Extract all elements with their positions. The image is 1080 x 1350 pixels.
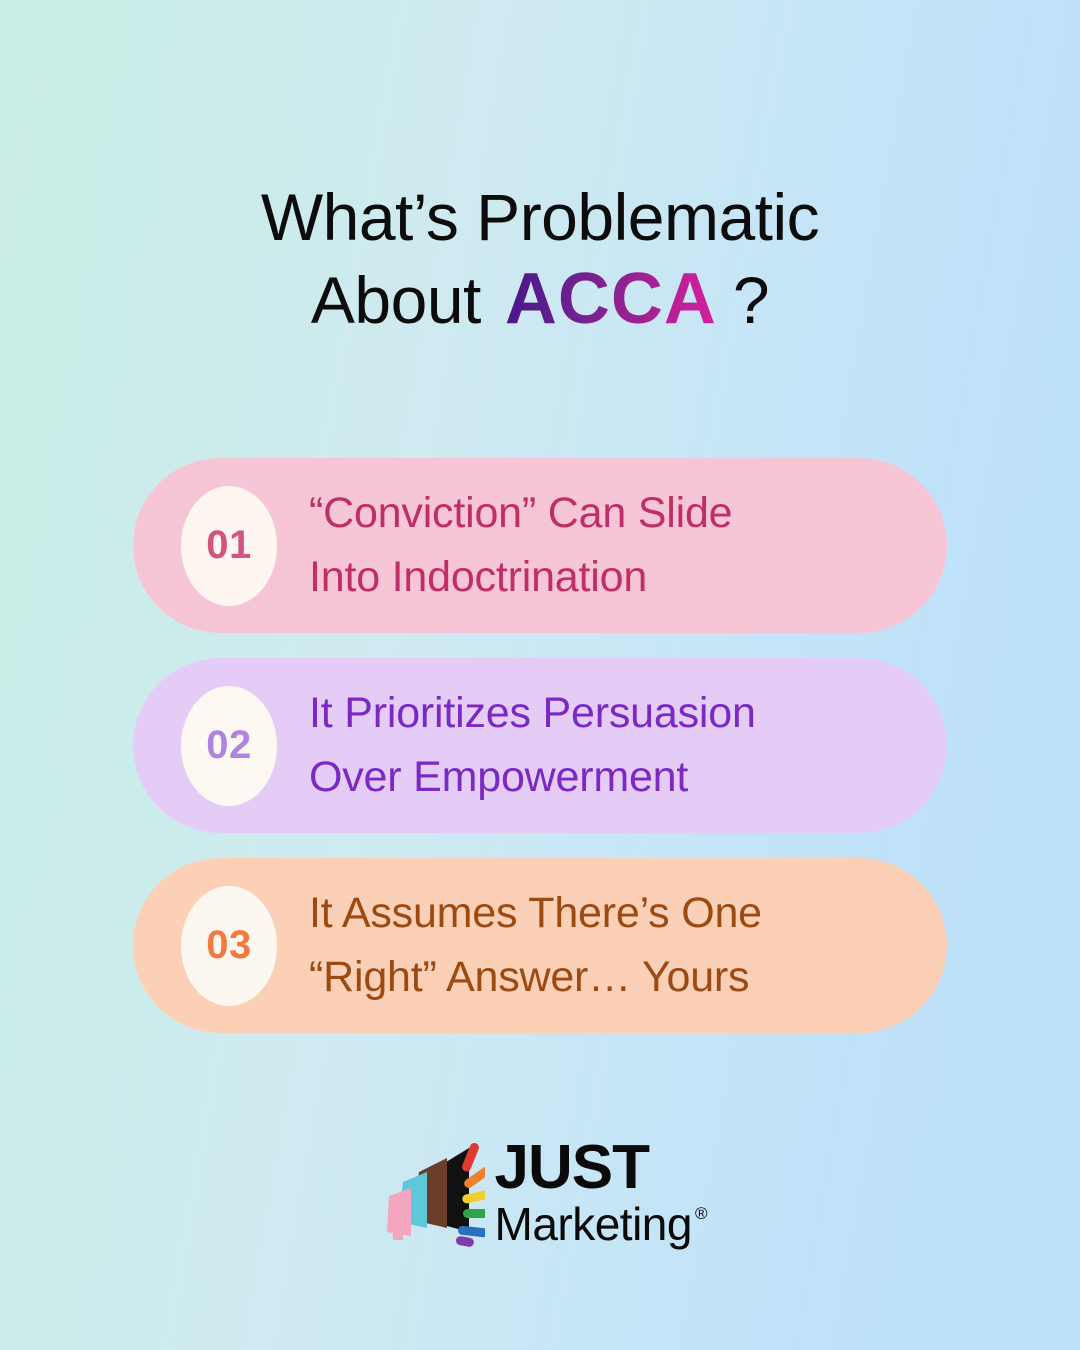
item-number: 03 [206,923,252,968]
list-item: 01 “Conviction” Can Slide Into Indoctrin… [133,458,947,633]
points-list: 01 “Conviction” Can Slide Into Indoctrin… [133,458,947,1033]
logo-inner: JUST Marketing ® [373,1136,708,1248]
title-line-1: What’s Problematic [0,176,1080,258]
item-number-badge: 01 [181,486,277,606]
title-question-mark: ? [733,259,769,341]
item-text: It Assumes There’s One “Right” Answer… Y… [309,882,762,1009]
logo-subtitle-wrap: Marketing ® [495,1201,708,1247]
item-text: It Prioritizes Persuasion Over Empowerme… [309,682,756,809]
list-item: 03 It Assumes There’s One “Right” Answer… [133,858,947,1033]
item-number-badge: 02 [181,686,277,806]
logo-subtitle: Marketing [495,1201,692,1247]
title-acca-highlight: ACCA [505,258,717,340]
item-text-line-2: “Right” Answer… Yours [309,946,762,1010]
logo-wordmark: JUST Marketing ® [495,1137,708,1247]
item-text-line-1: It Prioritizes Persuasion [309,689,756,737]
title-line-2: About ACCA ? [0,258,1080,341]
megaphone-icon [373,1136,485,1248]
poster-canvas: What’s Problematic About ACCA ? 01 “Conv… [0,0,1080,1350]
registered-trademark-icon: ® [695,1205,708,1222]
page-title: What’s Problematic About ACCA ? [0,176,1080,341]
item-number: 02 [206,723,252,768]
brand-logo: JUST Marketing ® [0,1136,1080,1248]
item-number-badge: 03 [181,886,277,1006]
title-about-word: About [311,259,481,341]
item-text-line-1: “Conviction” Can Slide [309,489,732,537]
item-text-line-1: It Assumes There’s One [309,889,762,937]
list-item: 02 It Prioritizes Persuasion Over Empowe… [133,658,947,833]
logo-brand-name: JUST [495,1137,649,1199]
item-text: “Conviction” Can Slide Into Indoctrinati… [309,482,732,609]
item-text-line-2: Into Indoctrination [309,546,732,610]
item-number: 01 [206,523,252,568]
item-text-line-2: Over Empowerment [309,746,756,810]
